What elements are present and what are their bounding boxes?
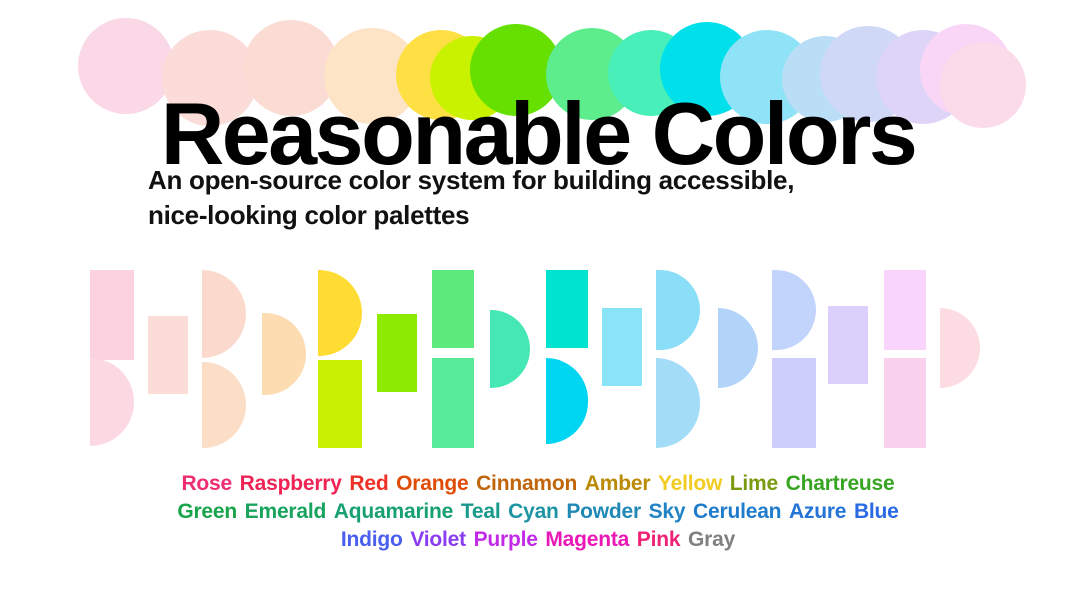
color-name-row-1: Rose Raspberry Red Orange Cinnamon Amber…	[0, 470, 1076, 498]
subtitle-line-2: nice-looking color palettes	[148, 198, 968, 233]
swatch-cerulean-semi	[718, 308, 758, 388]
color-name-yellow: Yellow	[658, 472, 722, 495]
swatch-sky-semi-top	[656, 270, 700, 350]
color-name-pink: Pink	[637, 528, 681, 551]
swatch-green-rect-bot	[432, 358, 474, 448]
color-name-blue: Blue	[854, 500, 899, 523]
color-name-cyan: Cyan	[508, 500, 559, 523]
color-name-red: Red	[349, 472, 388, 495]
color-name-green: Green	[177, 500, 237, 523]
color-name-powder: Powder	[566, 500, 641, 523]
color-name-row-3: Indigo Violet Purple Magenta Pink Gray	[0, 526, 1076, 554]
color-name-emerald: Emerald	[245, 500, 326, 523]
color-name-raspberry: Raspberry	[240, 472, 342, 495]
page-subtitle: An open-source color system for building…	[148, 163, 968, 232]
color-name-amber: Amber	[585, 472, 651, 495]
swatch-cyan-semi	[546, 358, 588, 444]
color-name-sky: Sky	[649, 500, 686, 523]
color-name-aquamarine: Aquamarine	[334, 500, 453, 523]
swatch-violet-rect	[828, 306, 868, 384]
color-name-orange: Orange	[396, 472, 468, 495]
swatch-raspberry-rect	[148, 316, 188, 394]
swatch-pink-rect	[884, 358, 926, 448]
swatch-rose-rect	[90, 270, 134, 360]
swatch-amber-semi	[318, 270, 362, 356]
page-root: Reasonable Colors An open-source color s…	[0, 0, 1076, 597]
color-name-cerulean: Cerulean	[693, 500, 781, 523]
swatch-rose-semi	[90, 358, 134, 446]
color-name-chartreuse: Chartreuse	[786, 472, 895, 495]
subtitle-line-1: An open-source color system for building…	[148, 163, 968, 198]
color-name-rose: Rose	[181, 472, 232, 495]
swatch-red-semi-bot	[202, 362, 246, 448]
color-name-violet: Violet	[410, 528, 466, 551]
swatch-blue-rect	[772, 358, 816, 448]
color-name-row-2: Green Emerald Aquamarine Teal Cyan Powde…	[0, 498, 1076, 526]
swatch-teal-rect	[546, 270, 588, 348]
color-swatch-band	[0, 258, 1076, 448]
color-name-azure: Azure	[789, 500, 846, 523]
color-name-teal: Teal	[461, 500, 501, 523]
color-name-purple: Purple	[474, 528, 538, 551]
color-name-gray: Gray	[688, 528, 735, 551]
swatch-chartreuse-rect	[377, 314, 417, 392]
color-name-lime: Lime	[730, 472, 778, 495]
swatch-powder-rect	[602, 308, 642, 386]
swatch-gray-semi	[940, 308, 980, 388]
color-name-magenta: Magenta	[545, 528, 629, 551]
swatch-sky-semi-bot	[656, 358, 700, 448]
swatch-orange-semi	[262, 313, 306, 395]
color-name-cinnamon: Cinnamon	[476, 472, 577, 495]
color-name-list: Rose Raspberry Red Orange Cinnamon Amber…	[0, 470, 1076, 554]
hero-section: Reasonable Colors	[0, 0, 1076, 150]
swatch-magenta-rect	[884, 270, 926, 350]
swatch-green-rect-top	[432, 270, 474, 348]
color-name-indigo: Indigo	[341, 528, 403, 551]
swatch-red-semi-top	[202, 270, 246, 358]
swatch-aquamarine-semi	[490, 310, 530, 388]
swatch-lime-rect	[318, 360, 362, 448]
swatch-azure-semi	[772, 270, 816, 350]
